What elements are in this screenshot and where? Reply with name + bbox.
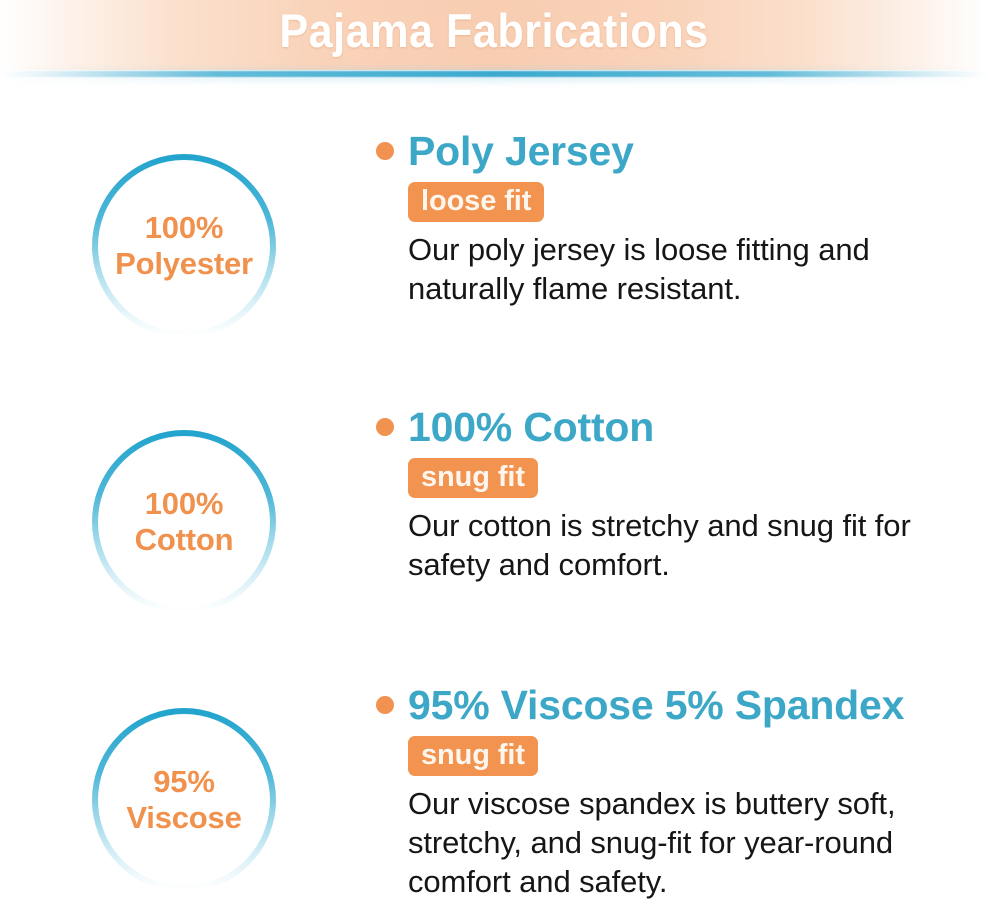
fit-badge: snug fit xyxy=(408,736,538,776)
header-underline xyxy=(0,71,988,77)
fabric-heading: 100% Cotton xyxy=(408,404,654,450)
fit-badge-wrap: snug fit xyxy=(408,736,976,776)
fabric-badge-text: 100% Polyester xyxy=(88,150,280,342)
fabric-content: 95% Viscose 5% Spandex snug fit Our visc… xyxy=(376,682,976,901)
fabric-badge: 100% Polyester xyxy=(88,150,280,342)
fabric-content: 100% Cotton snug fit Our cotton is stret… xyxy=(376,404,976,584)
fabric-content: Poly Jersey loose fit Our poly jersey is… xyxy=(376,128,976,308)
fabric-badge-line2: Viscose xyxy=(126,800,241,836)
fit-badge-wrap: loose fit xyxy=(408,182,976,222)
fabric-description: Our viscose spandex is buttery soft, str… xyxy=(408,784,968,901)
fabric-badge-text: 100% Cotton xyxy=(88,426,280,618)
fit-badge-wrap: snug fit xyxy=(408,458,976,498)
fit-badge: snug fit xyxy=(408,458,538,498)
page-title: Pajama Fabrications xyxy=(40,0,949,70)
fabric-badge: 95% Viscose xyxy=(88,704,280,896)
fabric-badge-line1: 100% xyxy=(145,210,224,246)
fabric-heading: 95% Viscose 5% Spandex xyxy=(408,682,904,728)
bullet-dot-icon xyxy=(376,696,394,714)
fabric-description: Our cotton is stretchy and snug fit for … xyxy=(408,506,968,584)
fabric-badge-line2: Cotton xyxy=(135,522,234,558)
fabric-badge-line1: 95% xyxy=(153,764,214,800)
fabric-heading-line: Poly Jersey xyxy=(376,128,976,178)
fabric-badge-line2: Polyester xyxy=(115,246,253,282)
fabric-heading-line: 100% Cotton xyxy=(376,404,976,454)
bullet-dot-icon xyxy=(376,418,394,436)
bullet-dot-icon xyxy=(376,142,394,160)
fabric-description: Our poly jersey is loose fitting and nat… xyxy=(408,230,968,308)
fit-badge: loose fit xyxy=(408,182,544,222)
fabric-heading: Poly Jersey xyxy=(408,128,634,174)
fabric-badge-text: 95% Viscose xyxy=(88,704,280,896)
fabric-heading-line: 95% Viscose 5% Spandex xyxy=(376,682,976,732)
fabric-badge-line1: 100% xyxy=(145,486,224,522)
fabric-badge: 100% Cotton xyxy=(88,426,280,618)
